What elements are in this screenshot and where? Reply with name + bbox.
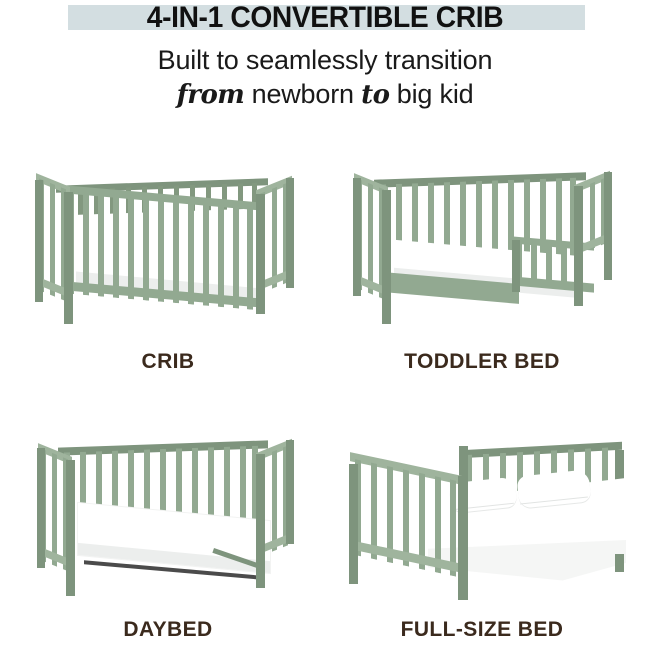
subtitle-word-to: to	[361, 80, 389, 110]
daybed-right-front-leg	[256, 566, 265, 588]
toddler-guardrail-left-post	[512, 240, 520, 292]
toddler-bed-illustration	[332, 150, 632, 345]
crib-illustration	[18, 150, 318, 345]
product-conversion-infographic: 4-IN-1 CONVERTIBLE CRIB Built to seamles…	[0, 0, 650, 650]
caption-full-size-bed: FULL-SIZE BED	[332, 618, 632, 642]
crib-left-rear-post	[35, 180, 43, 296]
caption-crib: CRIB	[18, 350, 318, 374]
product-config-toddler-bed: TODDLER BED	[332, 150, 632, 390]
product-config-full-size-bed: FULL-SIZE BED	[332, 420, 632, 650]
full-footboard-right-leg	[458, 578, 468, 600]
daybed-left-rear-post	[37, 448, 45, 568]
daybed-right-front-post	[256, 454, 265, 580]
daybed-left-front-leg	[66, 572, 75, 596]
product-config-daybed: DAYBED	[18, 420, 318, 650]
subtitle-line-2: from newborn to big kid	[0, 79, 650, 110]
crib-right-front-leg	[256, 290, 265, 314]
daybed-right-rear-post	[286, 440, 294, 544]
page-title: 4-IN-1 CONVERTIBLE CRIB	[20, 1, 631, 35]
full-footboard-left-leg	[349, 562, 358, 584]
crib-left-front-leg	[64, 298, 73, 324]
toddler-right-front-leg	[574, 282, 583, 306]
caption-toddler-bed: TODDLER BED	[332, 350, 632, 374]
toddler-right-front-post	[574, 186, 583, 296]
subtitle-word-from: from	[177, 80, 245, 110]
toddler-right-rear-leg	[604, 262, 612, 280]
toddler-left-front-leg	[382, 300, 391, 324]
toddler-right-rear-post	[604, 172, 612, 270]
full-size-bed-illustration	[332, 420, 632, 615]
full-footboard-left-post	[349, 464, 358, 566]
product-config-crib: CRIB	[18, 150, 318, 390]
crib-right-rear-leg	[286, 270, 294, 288]
daybed-illustration	[18, 420, 318, 615]
subtitle-line-1: Built to seamlessly transition	[0, 45, 650, 76]
full-headboard-right-leg	[615, 554, 624, 572]
crib-right-rear-post	[286, 178, 294, 282]
subtitle-word-bigkid: big kid	[397, 79, 474, 109]
header: 4-IN-1 CONVERTIBLE CRIB	[0, 0, 650, 40]
toddler-left-rear-post	[353, 178, 361, 296]
subtitle-word-newborn: newborn	[252, 79, 354, 109]
caption-daybed: DAYBED	[18, 618, 318, 642]
full-footboard-right-post	[458, 476, 468, 594]
crib-left-rear-leg	[35, 284, 43, 302]
